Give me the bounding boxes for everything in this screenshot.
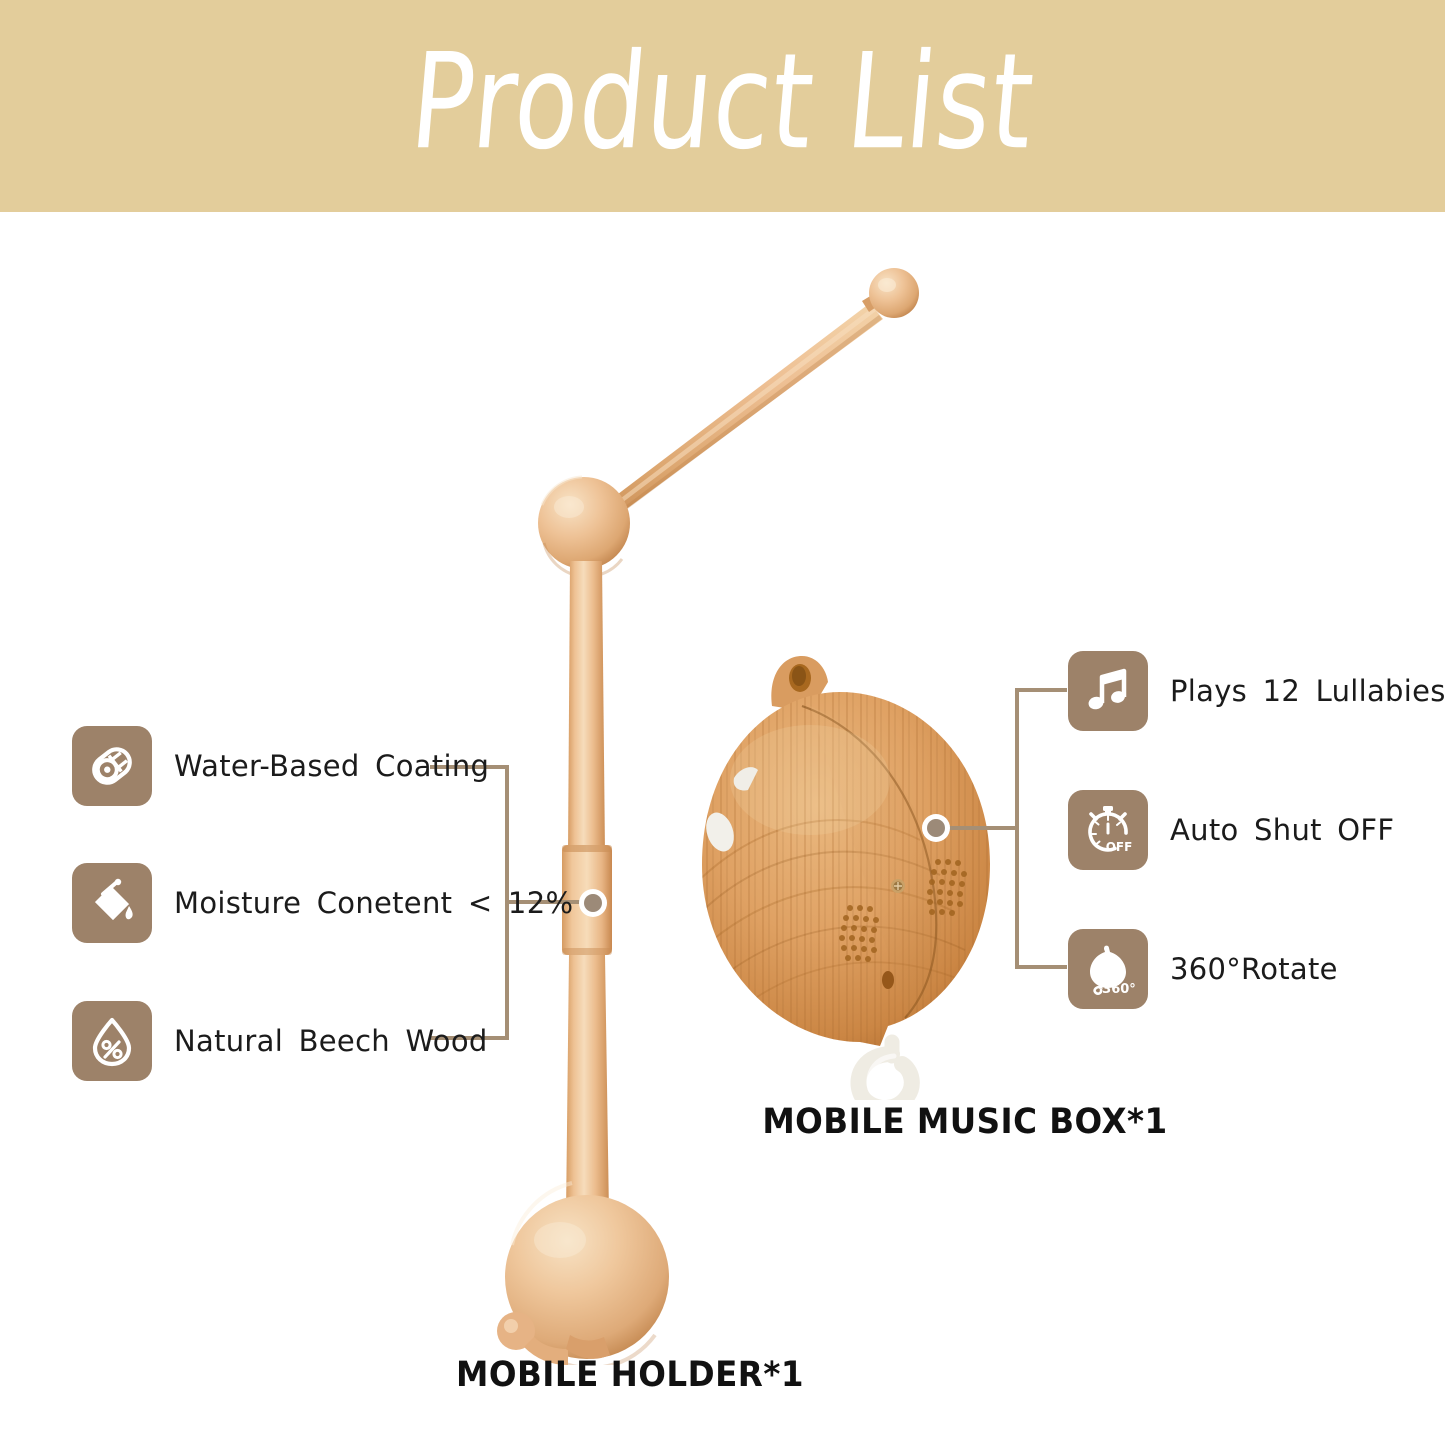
wood-log-icon [72,726,152,806]
speaker-grille-lower [839,905,879,962]
holder-arm [593,268,919,528]
rotate-360-label: 360° [1102,982,1135,996]
music-box-vent-hole [882,971,894,989]
holder-upper-pole [568,561,605,855]
feature-natural-beech-wood[interactable]: Natural Beech Wood [72,1000,488,1082]
mobile-music-box-product-image [690,650,1020,1100]
holder-base-ball [497,1183,669,1365]
holder-pivot-ball [538,477,630,577]
stopwatch-off-icon: OFF [1068,790,1148,870]
holder-lower-pole [564,955,611,1255]
holder-connector-dot [575,885,611,921]
music-box-hook [858,1042,911,1100]
paint-bucket-icon [72,863,152,943]
mobile-music-box-caption: MOBILE MUSIC BOX*1 [686,1102,1244,1142]
music-box-side-buttons [701,767,758,855]
feature-label: Moisture Conetent < 12% [174,886,573,920]
feature-label: Auto Shut OFF [1170,813,1394,847]
music-note-icon [1068,651,1148,731]
feature-moisture-content[interactable]: Moisture Conetent < 12% [72,862,573,944]
right-leader-bracket [930,675,1070,985]
mobile-holder-product-image [470,255,930,1365]
music-box-top-tab [771,656,828,712]
feature-plays-lullabies[interactable]: Plays 12 Lullabies [1068,650,1445,732]
product-list-infographic: Product List [0,0,1445,1445]
stopwatch-off-label: OFF [1106,840,1133,854]
page-header: Product List [0,0,1445,212]
speaker-grille-upper [927,859,967,916]
feature-water-based-coating[interactable]: Water-Based Coating [72,725,489,807]
music-box-connector-dot [918,810,954,846]
music-box-screw [891,879,905,893]
water-drop-percent-icon [72,1001,152,1081]
feature-label: Plays 12 Lullabies [1170,674,1445,708]
mobile-holder-caption: MOBILE HOLDER*1 [351,1355,909,1395]
rotate-360-icon: 360° [1068,929,1148,1009]
feature-auto-shut-off[interactable]: OFF Auto Shut OFF [1068,789,1394,871]
page-title: Product List [405,36,1039,175]
feature-label: 360°Rotate [1170,952,1338,986]
feature-label: Natural Beech Wood [174,1024,488,1058]
music-box-body [690,650,1020,1100]
feature-label: Water-Based Coating [174,749,489,783]
feature-360-rotate[interactable]: 360° 360°Rotate [1068,928,1338,1010]
